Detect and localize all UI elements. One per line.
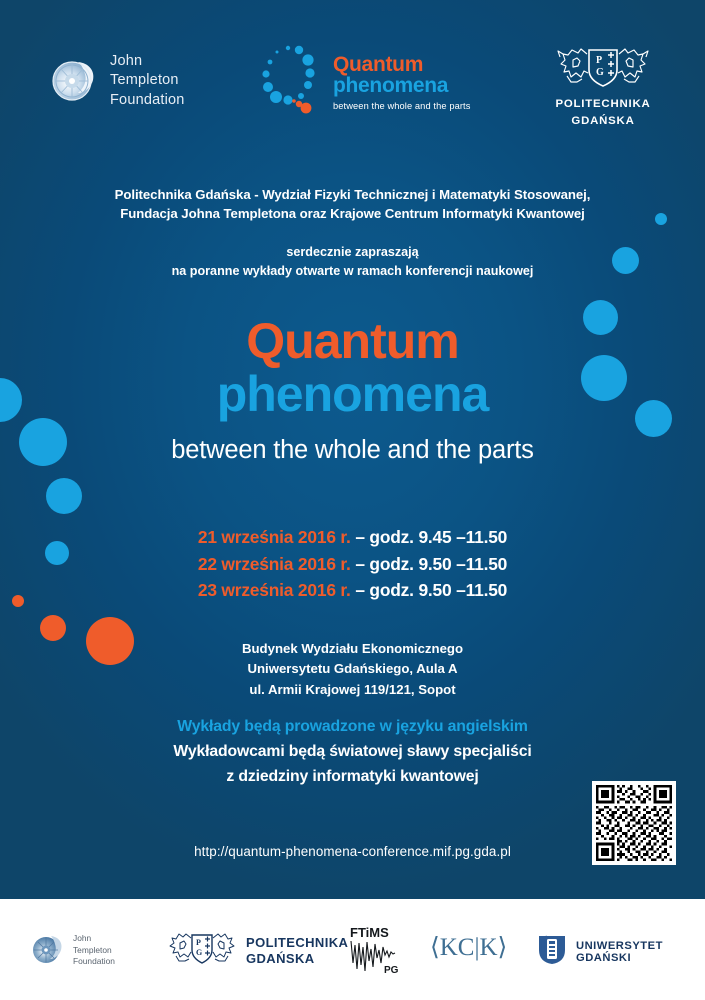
templeton-logo: John Templeton Foundation [48,52,185,110]
conference-url-block: http://quantum-phenomena-conference.mif.… [0,843,705,861]
organizers-line-1: Politechnika Gdańska - Wydział Fizyki Te… [0,185,705,204]
date-row: 23 września 2016 r. – godz. 9.50 –11.50 [0,577,705,604]
templeton-line-1: John [110,52,185,71]
venue-line-2: Uniwersytetu Gdańskiego, Aula A [0,659,705,679]
svg-text:FTiMS: FTiMS [350,925,389,940]
templeton-line-2: Templeton [110,71,185,90]
date-row: 22 września 2016 r. – godz. 9.50 –11.50 [0,551,705,578]
conference-poster: John Templeton Foundation [0,0,705,1000]
qp-logo-word-1: Quantum [333,54,470,75]
politechnika-gdanska-logo: P G POLITECHNIKA GDAŃSKA [549,42,657,128]
quantum-phenomena-wordmark: Quantum phenomena between the whole and … [333,52,470,111]
pg-line-2: GDAŃSKA [549,115,657,129]
templeton-wordmark: John Templeton Foundation [110,52,185,110]
svg-text:PG: PG [384,965,399,975]
coat-of-arms-icon: P G [165,928,239,973]
templeton-line-3: Foundation [110,91,185,110]
svg-text:G: G [596,67,604,78]
footer-pg-wordmark: POLITECHNIKA GDAŃSKA [246,935,348,966]
decorative-bubble [46,478,82,514]
language-note-highlight: Wykłady będą prowadzone w języku angiels… [0,715,705,740]
venue-line-3: ul. Armii Krajowej 119/121, Sopot [0,680,705,700]
title-tagline: between the whole and the parts [0,435,705,466]
date-day: 21 września 2016 r. [198,527,351,547]
pg-line-1: POLITECHNIKA [549,98,657,112]
footer-pg-line-1: POLITECHNIKA [246,935,348,951]
footer-logo-politechnika-gdanska: P G POLITECHNIKA GDAŃSKA [165,928,348,973]
title-word-quantum: Quantum [0,316,705,366]
svg-text:G: G [196,948,202,957]
waveform-icon: FTiMS PG [348,925,404,980]
invitation-line-1: serdecznie zapraszają [0,243,705,262]
date-time: – godz. 9.50 –11.50 [355,580,507,600]
poster-header: John Templeton Foundation [0,0,705,145]
ug-emblem-icon [535,932,569,971]
footer-templeton-line-3: Foundation [73,956,115,967]
language-note-block: Wykłady będą prowadzone w języku angiels… [0,715,705,790]
nautilus-shell-icon [30,930,66,971]
main-title-block: Quantum phenomena between the whole and … [0,316,705,466]
conference-url[interactable]: http://quantum-phenomena-conference.mif.… [194,844,511,859]
svg-text:P: P [596,55,602,66]
venue-block: Budynek Wydziału Ekonomicznego Uniwersyt… [0,639,705,700]
quantum-phenomena-logo: Quantum phenomena between the whole and … [258,42,470,121]
coat-of-arms-icon: P G [551,77,655,94]
date-time: – godz. 9.50 –11.50 [355,554,507,574]
footer-logo-kck: ⟨KC|K⟩ [430,932,507,962]
footer-logo-ftims-pg: FTiMS PG [348,925,404,980]
dot-ring-icon [258,42,324,121]
footer-templeton-line-2: Templeton [73,945,115,956]
qp-logo-tagline: between the whole and the parts [333,101,470,111]
footer-pg-line-2: GDAŃSKA [246,951,348,967]
dates-block: 21 września 2016 r. – godz. 9.45 –11.50 … [0,524,705,604]
date-time: – godz. 9.45 –11.50 [355,527,507,547]
decorative-bubble [40,615,66,641]
footer-logo-john-templeton-foundation: John Templeton Foundation [30,930,115,971]
date-day: 22 września 2016 r. [198,554,351,574]
invitation-block: serdecznie zapraszają na poranne wykłady… [0,243,705,281]
language-note-line-2: Wykładowcami będą światowej sławy specja… [0,740,705,765]
footer-templeton-line-1: John [73,933,115,944]
date-day: 23 września 2016 r. [198,580,351,600]
qp-logo-word-2: phenomena [333,75,470,97]
venue-line-1: Budynek Wydziału Ekonomicznego [0,639,705,659]
footer-logo-uniwersytet-gdanski: UNIWERSYTET GDAŃSKI [535,932,705,971]
footer-kck-text: ⟨KC|K⟩ [430,932,507,962]
footer-ug-text: UNIWERSYTET GDAŃSKI [576,940,705,964]
organizers-block: Politechnika Gdańska - Wydział Fizyki Te… [0,185,705,223]
invitation-line-2: na poranne wykłady otwarte w ramach konf… [0,262,705,281]
date-row: 21 września 2016 r. – godz. 9.45 –11.50 [0,524,705,551]
svg-text:P: P [196,938,201,947]
title-word-phenomena: phenomena [0,366,705,422]
organizers-line-2: Fundacja Johna Templetona oraz Krajowe C… [0,204,705,223]
nautilus-shell-icon [48,52,100,109]
poster-canvas: John Templeton Foundation [0,0,705,899]
footer-templeton-wordmark: John Templeton Foundation [73,933,115,967]
